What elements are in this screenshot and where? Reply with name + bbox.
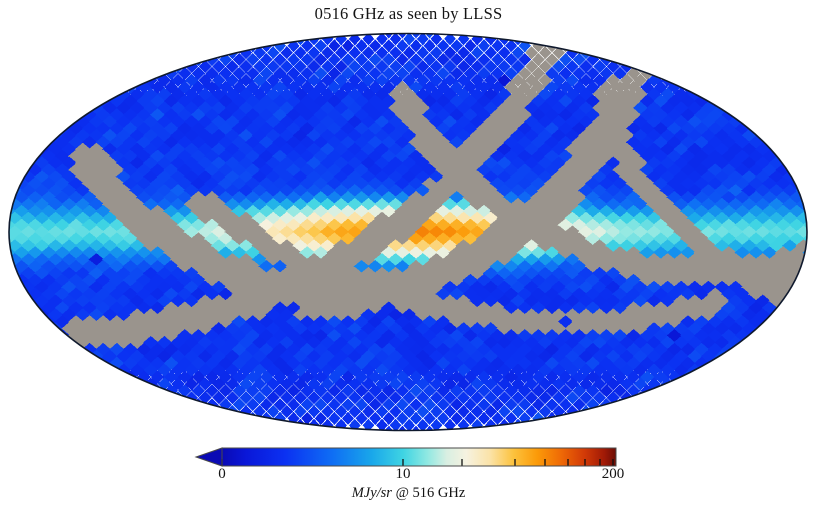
colorbar-tick-label: 200: [602, 466, 625, 483]
colorbar-tick-label: 10: [396, 466, 411, 483]
healpix-pixel-layer: [8, 32, 808, 432]
colorbar-bar: [222, 448, 616, 466]
colorbar: 010200 MJy/sr @ 516 GHz: [0, 442, 817, 514]
colorbar-unit: MJy/sr: [352, 485, 392, 501]
page-title: 0516 GHz as seen by LLSS: [0, 4, 817, 24]
mollweide-projection-svg: [8, 32, 808, 432]
sky-map: [8, 32, 808, 432]
colorbar-axis-label: MJy/sr @ 516 GHz: [0, 485, 817, 502]
figure-canvas: 0516 GHz as seen by LLSS I A516 0102: [0, 0, 817, 514]
colorbar-under-arrow: [196, 448, 222, 466]
colorbar-frequency: @ 516 GHz: [396, 485, 466, 501]
colorbar-tick-label: 0: [218, 466, 226, 483]
